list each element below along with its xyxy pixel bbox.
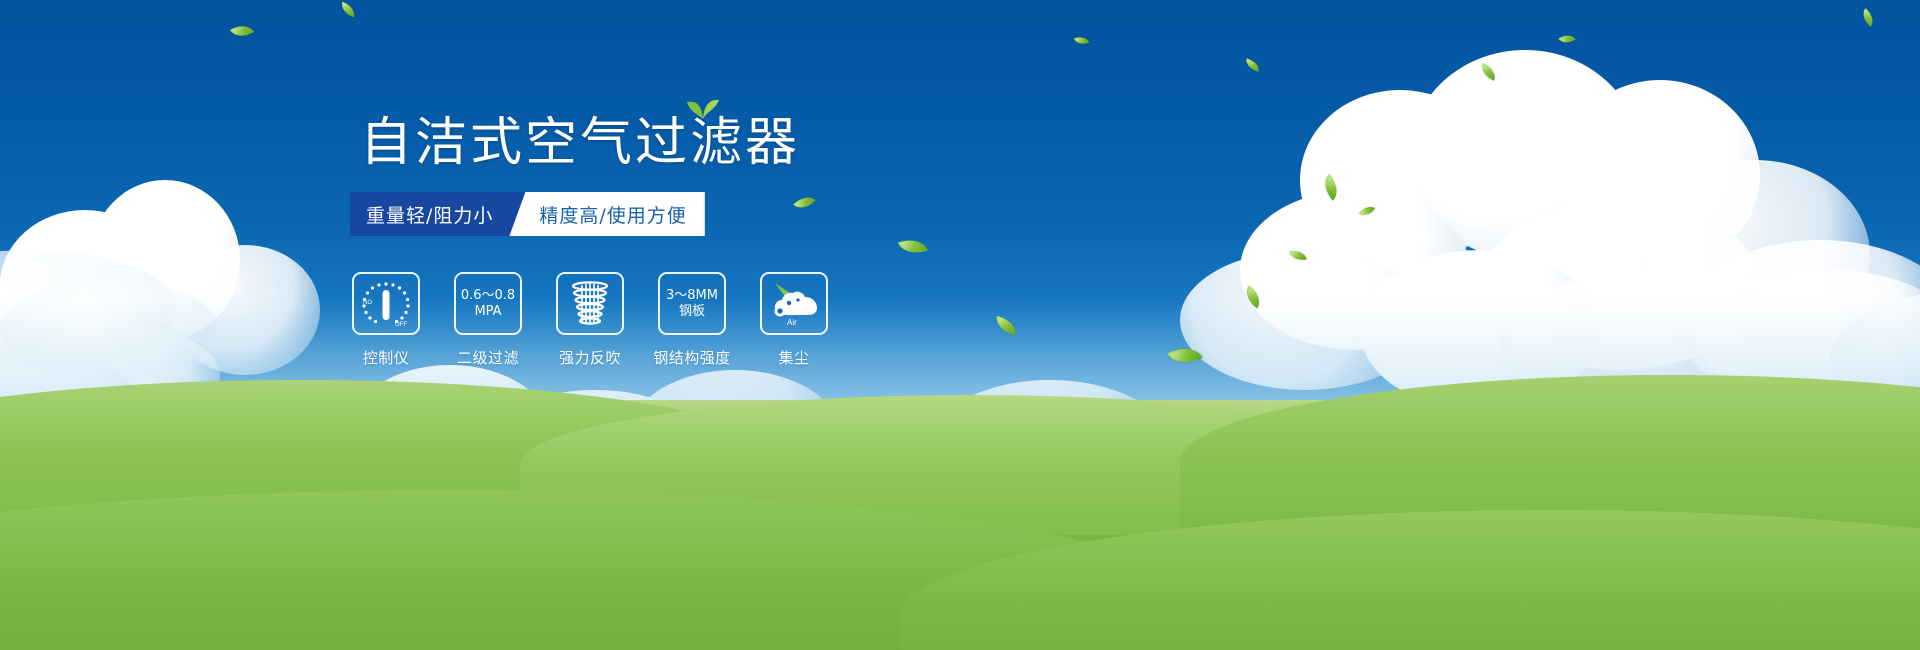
feature-icon-box: 0.6〜0.8 MPA [454,272,522,335]
feature-caption: 控制仪 [363,347,410,368]
feature-icon-box: Air [760,272,828,335]
tag-weight-resistance: 重量轻/阻力小 [350,192,525,236]
filter-cartridge-icon [567,280,613,328]
tag-precision-usability: 精度高/使用方便 [509,192,704,236]
page-title: 自洁式空气过滤器 [300,112,860,174]
feature-row: NO OFF 控制仪 0.6〜0.8 MPA 二级过滤 [352,272,828,368]
feature-icon-box: 3〜8MM 钢板 [658,272,726,335]
tag-label: 重量轻/阻力小 [366,201,493,228]
feature-item-steel: 3〜8MM 钢板 钢结构强度 [658,272,726,368]
feature-item-backblow: 强力反吹 [556,272,624,368]
dial-min-label: NO [363,300,372,306]
pressure-range-text: 0.6〜0.8 [461,288,515,304]
feature-caption: 集尘 [778,347,809,368]
pressure-unit-text: MPA [474,304,501,320]
feature-icon-box [556,272,624,335]
gauge-dial-icon: NO OFF [360,280,412,328]
feature-caption: 钢结构强度 [653,347,731,368]
feature-item-pressure: 0.6〜0.8 MPA 二级过滤 [454,272,522,368]
tag-label: 精度高/使用方便 [539,201,686,228]
air-cloud-icon: Air [767,281,821,327]
banner-content: 自洁式空气过滤器 重量轻/阻力小 精度高/使用方便 [0,0,1920,650]
dial-max-label: OFF [395,322,407,328]
title-block: 自洁式空气过滤器 [300,112,860,174]
tag-row: 重量轻/阻力小 精度高/使用方便 [350,192,705,236]
steel-material-text: 钢板 [679,304,705,320]
promo-banner: 自洁式空气过滤器 重量轻/阻力小 精度高/使用方便 [0,0,1920,650]
feature-caption: 强力反吹 [559,347,621,368]
leaf-icon [686,96,720,120]
feature-item-dust: Air 集尘 [760,272,828,368]
feature-icon-box: NO OFF [352,272,420,335]
feature-caption: 二级过滤 [457,347,519,368]
feature-item-controller: NO OFF 控制仪 [352,272,420,368]
air-label: Air [787,318,797,327]
steel-thickness-text: 3〜8MM [666,288,718,304]
